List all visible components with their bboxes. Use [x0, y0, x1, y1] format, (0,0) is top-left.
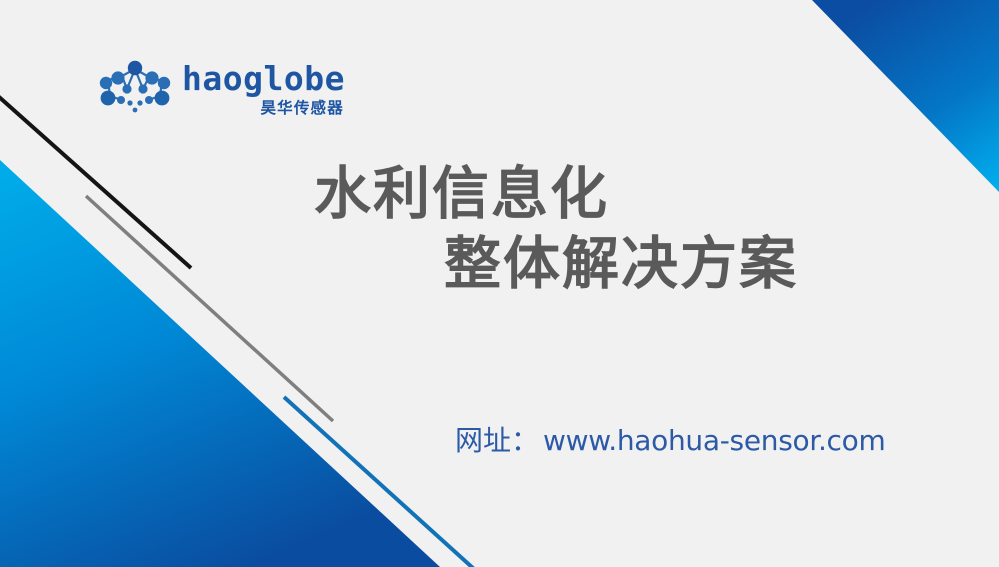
- company-logo: haoglobe 昊华传感器: [96, 58, 345, 120]
- website-url[interactable]: www.haohua-sensor.com: [543, 424, 885, 457]
- website-line: 网址： www.haohua-sensor.com: [455, 419, 885, 459]
- logo-subtitle: 昊华传感器: [260, 101, 344, 117]
- slide-title: 水利信息化 整体解决方案: [0, 160, 999, 299]
- title-line-1: 水利信息化: [314, 160, 999, 230]
- logo-wordmark: haoglobe: [182, 62, 345, 95]
- website-label: 网址：: [455, 419, 539, 459]
- presentation-slide: haoglobe 昊华传感器 水利信息化 整体解决方案 网址： www.haoh…: [0, 0, 999, 567]
- title-line-2: 整体解决方案: [444, 230, 999, 300]
- logo-text-group: haoglobe 昊华传感器: [182, 58, 345, 117]
- network-dots-logo-icon: [96, 58, 174, 120]
